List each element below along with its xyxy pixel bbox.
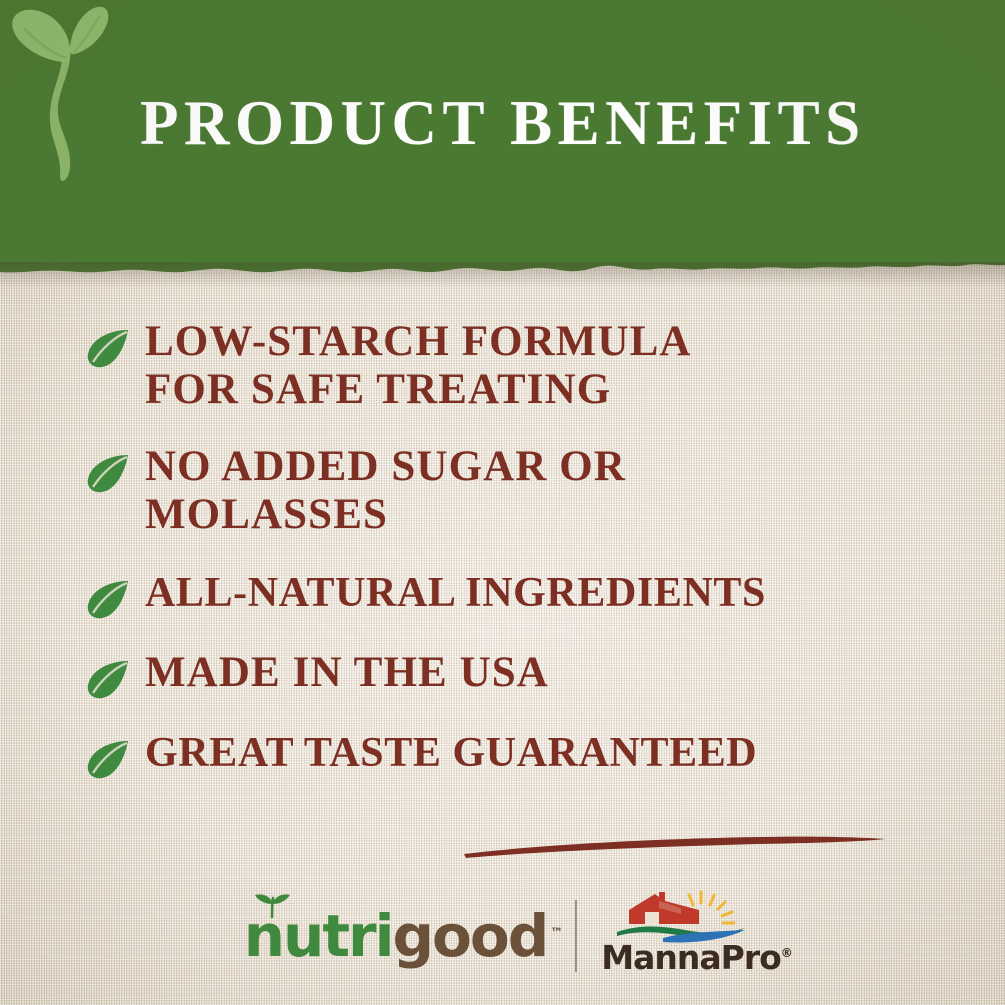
leaf-icon [84, 326, 132, 370]
mannapro-name-text: MannaPro [601, 938, 781, 977]
list-item: LOW-STARCH FORMULA FOR SAFE TREATING [84, 318, 964, 414]
leaf-icon [84, 451, 132, 495]
list-item: ALL-NATURAL INGREDIENTS [84, 569, 964, 621]
page-title: PRODUCT BENEFITS [140, 92, 866, 155]
nutrigood-wordmark: nutrigood ™ [244, 907, 548, 965]
registered-symbol: ® [781, 946, 793, 960]
barn-sun-logo [615, 888, 747, 944]
benefit-text: LOW-STARCH FORMULA FOR SAFE TREATING [145, 318, 692, 414]
header-banner: PRODUCT BENEFITS [0, 0, 1005, 278]
list-item: GREAT TASTE GUARANTEED [84, 729, 964, 781]
benefit-text: MADE IN THE USA [145, 649, 549, 697]
brush-underline [460, 833, 890, 859]
leaf-icon [84, 657, 132, 701]
mannapro-logo: MannaPro® [601, 890, 761, 982]
leaf-icon [84, 577, 132, 621]
footer-logos: nutrigood ™ [0, 886, 1005, 986]
nutrigood-good-text: good [393, 902, 548, 970]
sprout-leaf-icon [252, 893, 292, 919]
benefit-text: GREAT TASTE GUARANTEED [145, 729, 757, 777]
logo-divider [575, 900, 577, 972]
benefits-list: LOW-STARCH FORMULA FOR SAFE TREATING NO … [84, 318, 964, 781]
benefit-text: NO ADDED SUGAR OR MOLASSES [145, 443, 626, 539]
trademark-symbol: ™ [550, 905, 563, 963]
list-item: NO ADDED SUGAR OR MOLASSES [84, 443, 964, 539]
nutrigood-logo: nutrigood ™ [244, 907, 548, 965]
infographic-page: PRODUCT BENEFITS LOW-STARCH FORMULA FOR … [0, 0, 1005, 1005]
sprout-icon [0, 0, 130, 185]
benefit-text: ALL-NATURAL INGREDIENTS [145, 569, 766, 617]
mannapro-wordmark: MannaPro® [601, 938, 761, 977]
list-item: MADE IN THE USA [84, 649, 964, 701]
leaf-icon [84, 737, 132, 781]
